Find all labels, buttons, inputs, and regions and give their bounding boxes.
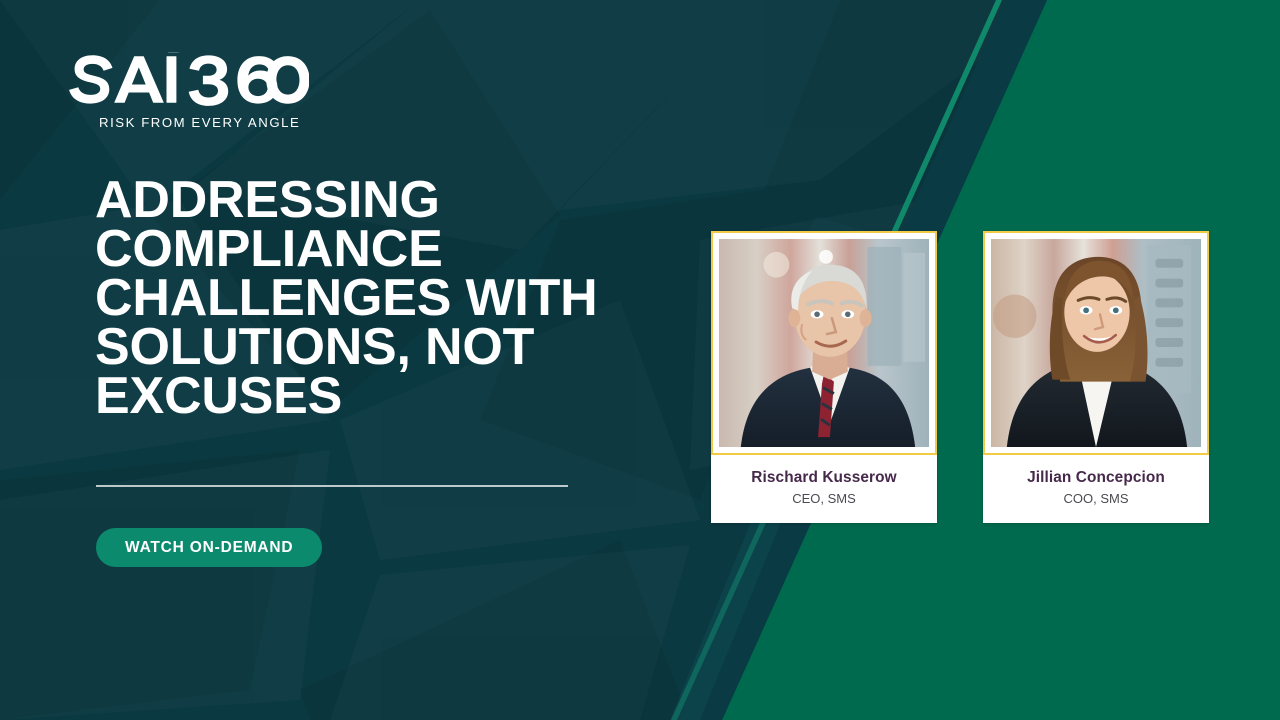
speaker-name: Jillian Concepcion bbox=[989, 468, 1203, 487]
hero-divider bbox=[96, 485, 568, 487]
promo-banner: RISK FROM EVERY ANGLE ADDRESSING COMPLIA… bbox=[0, 0, 1280, 720]
speaker-role: CEO, SMS bbox=[717, 490, 931, 507]
speaker-name: Rischard Kusserow bbox=[717, 468, 931, 487]
speaker-card: Jillian Concepcion COO, SMS bbox=[983, 231, 1209, 523]
speaker-meta: Jillian Concepcion COO, SMS bbox=[983, 455, 1209, 523]
headshot-jillian-concepcion bbox=[991, 239, 1201, 447]
speaker-meta: Rischard Kusserow CEO, SMS bbox=[711, 455, 937, 523]
speaker-list: Rischard Kusserow CEO, SMS bbox=[711, 231, 1209, 523]
photo-frame bbox=[983, 231, 1209, 455]
sai360-logo: RISK FROM EVERY ANGLE bbox=[62, 52, 322, 130]
page-title: ADDRESSING COMPLIANCE CHALLENGES WITH SO… bbox=[95, 176, 695, 421]
sai360-logo-mark bbox=[62, 52, 309, 108]
logo-tagline: RISK FROM EVERY ANGLE bbox=[99, 115, 322, 130]
speaker-role: COO, SMS bbox=[989, 490, 1203, 507]
photo-frame bbox=[711, 231, 937, 455]
watch-on-demand-button[interactable]: WATCH ON-DEMAND bbox=[96, 528, 322, 567]
speaker-card: Rischard Kusserow CEO, SMS bbox=[711, 231, 937, 523]
headshot-rischard-kusserow bbox=[719, 239, 929, 447]
